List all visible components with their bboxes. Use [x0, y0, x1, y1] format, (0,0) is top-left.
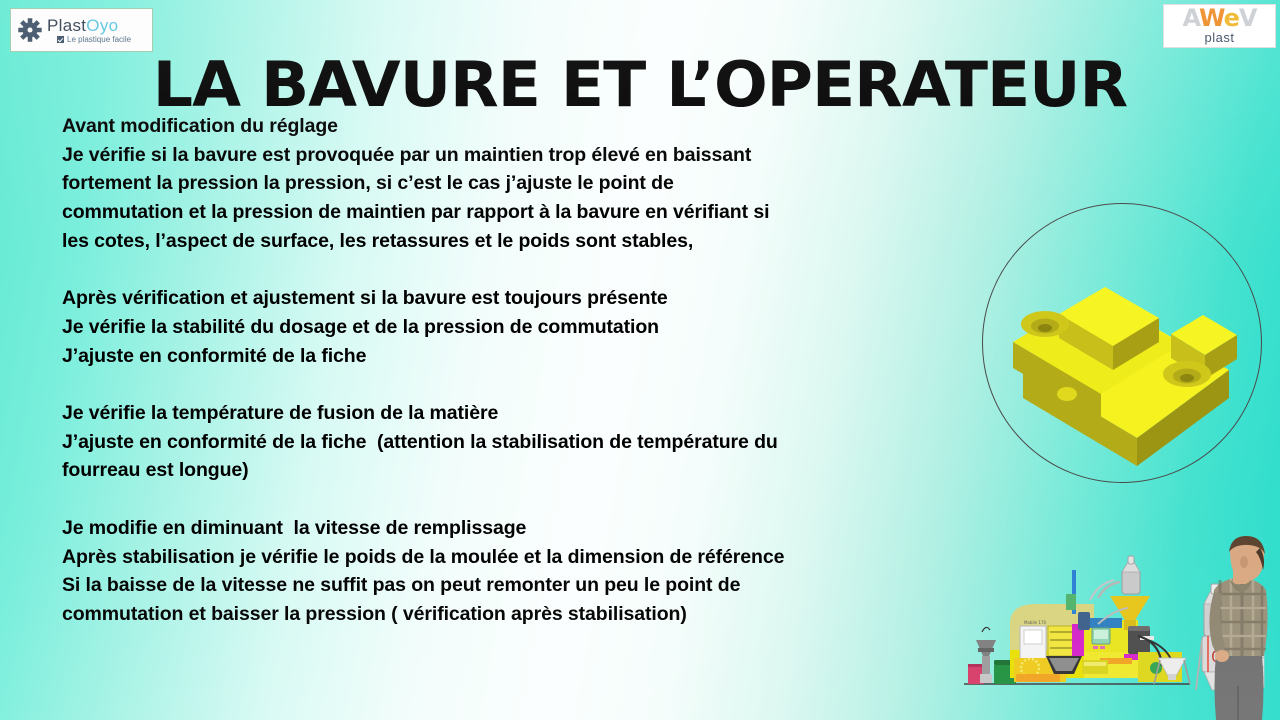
paragraph-after-verification: Après vérification et ajustement si la b… [62, 284, 942, 370]
text-line: fortement la pression la pression, si c’… [62, 169, 942, 198]
paragraph-spacer [62, 485, 942, 514]
paragraph-before-adjustment: Avant modification du réglage Je vérifie… [62, 112, 942, 256]
body-text-block: Avant modification du réglage Je vérifie… [62, 112, 942, 629]
logo-plastoyo: PlastOyo Le plastique facile [10, 8, 153, 52]
logo-plastoyo-tagline-row: Le plastique facile [57, 36, 131, 44]
molded-part-3d-illustration [982, 203, 1262, 483]
text-line: Avant modification du réglage [62, 112, 942, 141]
text-line: Je vérifie si la bavure est provoquée pa… [62, 141, 942, 170]
text-line: les cotes, l’aspect de surface, les reta… [62, 227, 942, 256]
logo-plastoyo-tagline: Le plastique facile [67, 36, 131, 44]
logo-awev-subword: plast [1205, 31, 1235, 44]
logo-plastoyo-word-plast: Plast [47, 16, 86, 35]
text-line: commutation et la pression de maintien p… [62, 198, 942, 227]
text-line: J’ajuste en conformité de la fiche (atte… [62, 428, 942, 457]
text-line: J’ajuste en conformité de la fiche [62, 342, 942, 371]
text-line: Après stabilisation je vérifie le poids … [62, 543, 942, 572]
paragraph-melt-temperature: Je vérifie la température de fusion de l… [62, 399, 942, 485]
text-line: commutation et baisser la pression ( vér… [62, 600, 942, 629]
paragraph-filling-speed: Je modifie en diminuant la vitesse de re… [62, 514, 942, 629]
page-title: LA BAVURE ET L’OPERATEUR [0, 52, 1280, 117]
text-line: Je vérifie la stabilité du dosage et de … [62, 313, 942, 342]
logo-awev-plast: AWeV plast [1163, 4, 1276, 48]
logo-plastoyo-wordmark: PlastOyo [47, 17, 131, 34]
operator-figure [1200, 536, 1278, 720]
text-line: Je vérifie la température de fusion de l… [62, 399, 942, 428]
logo-plastoyo-word-oyo: Oyo [86, 16, 118, 35]
text-line: Si la baisse de la vitesse ne suffit pas… [62, 571, 942, 600]
text-line: fourreau est longue) [62, 456, 942, 485]
paragraph-spacer [62, 370, 942, 399]
text-line: Je modifie en diminuant la vitesse de re… [62, 514, 942, 543]
paragraph-spacer [62, 256, 942, 285]
checkbox-icon [57, 36, 64, 43]
svg-text:Mobile 170: Mobile 170 [1024, 620, 1046, 625]
logo-awev-wordmark: AWeV [1183, 8, 1257, 30]
molded-part-callout-circle [982, 203, 1262, 483]
slide-canvas: PlastOyo Le plastique facile AWeV plast … [0, 0, 1280, 720]
text-line: Après vérification et ajustement si la b… [62, 284, 942, 313]
gear-icon [17, 17, 43, 43]
